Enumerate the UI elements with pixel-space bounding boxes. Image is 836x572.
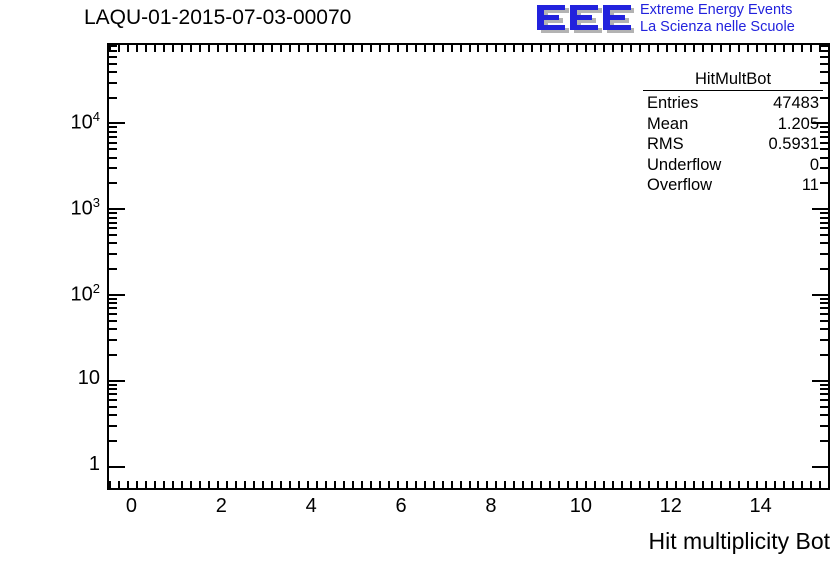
stats-row-key: Overflow (647, 175, 712, 196)
x-tick-label: 10 (561, 495, 601, 518)
root-canvas: LAQU-01-2015-07-03-00070 (0, 0, 836, 572)
stats-row-value: 1.205 (778, 114, 819, 135)
stats-title: HitMultBot (643, 70, 823, 90)
stats-row: Overflow11 (643, 175, 823, 196)
x-tick-label: 2 (201, 495, 241, 518)
stats-row-key: Entries (647, 93, 698, 114)
stats-rows: Entries47483Mean1.205RMS0.5931Underflow0… (643, 93, 823, 196)
x-tick-label: 8 (471, 495, 511, 518)
x-tick-label: 0 (111, 495, 151, 518)
x-tick-label: 6 (381, 495, 421, 518)
stats-row-value: 0 (810, 155, 819, 176)
stats-row: Entries47483 (643, 93, 823, 114)
x-tick-label: 4 (291, 495, 331, 518)
stats-row-key: Underflow (647, 155, 721, 176)
y-tick-label: 10 (30, 367, 100, 390)
y-tick-label: 104 (30, 109, 100, 135)
x-tick-label: 14 (741, 495, 781, 518)
stats-row: RMS0.5931 (643, 134, 823, 155)
stats-row: Underflow0 (643, 155, 823, 176)
stats-row-value: 11 (802, 175, 819, 196)
stats-box: HitMultBot Entries47483Mean1.205RMS0.593… (643, 70, 823, 196)
stats-row-key: Mean (647, 114, 688, 135)
stats-row-value: 0.5931 (769, 134, 819, 155)
stats-row: Mean1.205 (643, 114, 823, 135)
y-tick-label: 1 (30, 453, 100, 476)
stats-row-key: RMS (647, 134, 684, 155)
y-tick-label: 102 (30, 281, 100, 307)
x-tick-label: 12 (651, 495, 691, 518)
y-tick-label: 103 (30, 195, 100, 221)
x-axis-title: Hit multiplicity Bot (649, 528, 830, 555)
stats-row-value: 47483 (773, 93, 819, 114)
stats-divider (643, 90, 823, 91)
